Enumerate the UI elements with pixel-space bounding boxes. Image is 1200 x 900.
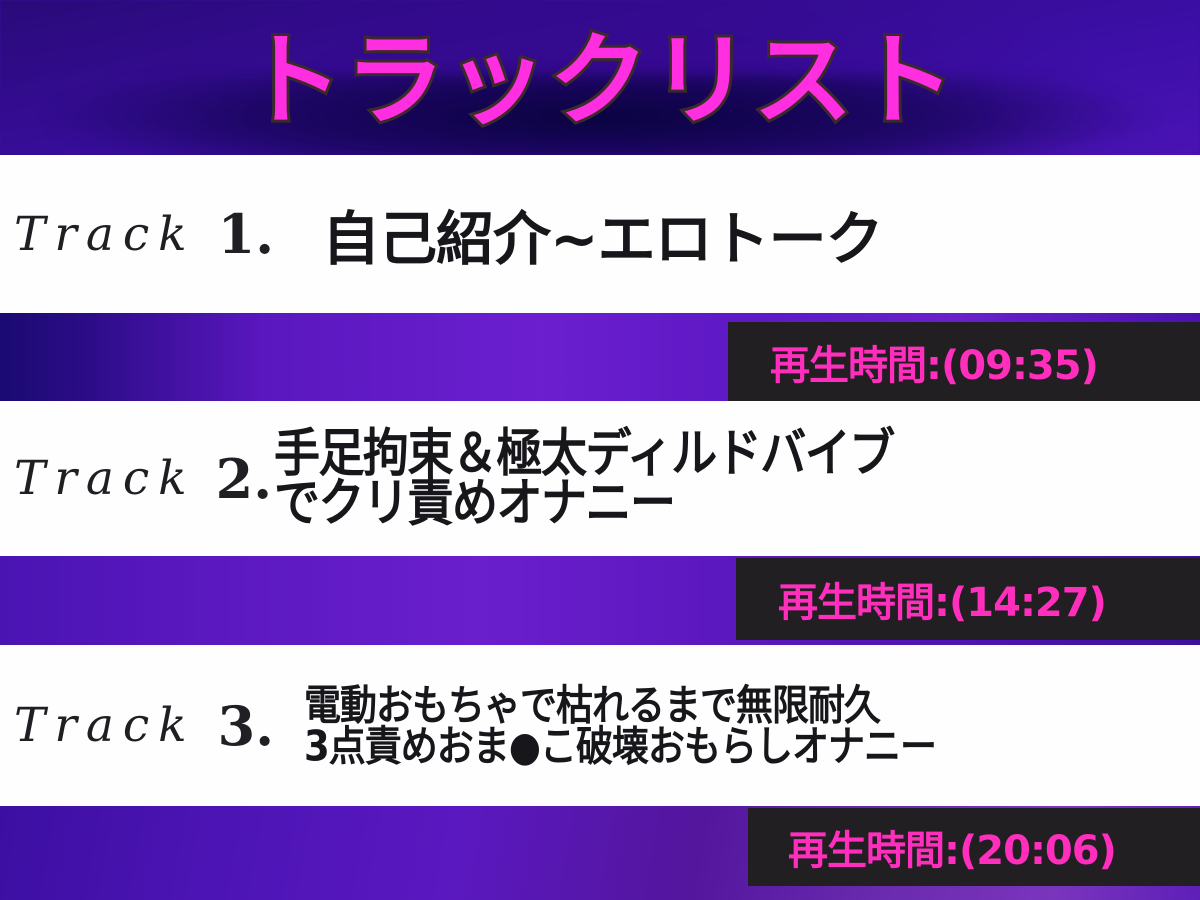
page-title: トラックリスト bbox=[243, 31, 957, 131]
track-label: Track bbox=[14, 451, 196, 506]
track-title-line-1: 手足拘束＆極太ディルドバイブ bbox=[274, 430, 894, 479]
track-duration-label: 再生時間:(20:06) bbox=[788, 818, 1116, 876]
track-row[interactable]: Track 2. 手足拘束＆極太ディルドバイブ でクリ責めオナニー bbox=[0, 401, 1200, 556]
track-number: 2. bbox=[216, 447, 272, 511]
track-number: 3. bbox=[218, 694, 274, 758]
track-duration-bar: 再生時間:(14:27) bbox=[736, 558, 1200, 640]
track-duration-label: 再生時間:(09:35) bbox=[770, 333, 1098, 391]
track-title-line-1: 電動おもちゃで枯れるまで無限耐久 bbox=[304, 684, 936, 725]
track-label: Track bbox=[14, 698, 196, 753]
track-title-line-1: 自己紹介~エロトーク bbox=[322, 192, 883, 276]
track-title: 電動おもちゃで枯れるまで無限耐久 3点責めおま●こ破壊おもらしオナニー bbox=[304, 684, 936, 767]
track-title-line-2: でクリ責めオナニー bbox=[274, 479, 894, 528]
track-list-slide: トラックリスト Track 1. 自己紹介~エロトーク 再生時間:(09:35)… bbox=[0, 0, 1200, 900]
track-number: 1. bbox=[218, 202, 274, 266]
track-duration-bar: 再生時間:(20:06) bbox=[748, 808, 1200, 886]
track-title: 自己紹介~エロトーク bbox=[322, 192, 883, 276]
track-row[interactable]: Track 1. 自己紹介~エロトーク bbox=[0, 155, 1200, 313]
track-label: Track bbox=[14, 207, 196, 262]
track-duration-bar: 再生時間:(09:35) bbox=[728, 322, 1200, 401]
track-title-line-2: 3点責めおま●こ破壊おもらしオナニー bbox=[304, 726, 936, 767]
track-title: 手足拘束＆極太ディルドバイブ でクリ責めオナニー bbox=[274, 430, 894, 528]
track-duration-label: 再生時間:(14:27) bbox=[778, 570, 1106, 628]
title-banner: トラックリスト bbox=[0, 18, 1200, 143]
track-row[interactable]: Track 3. 電動おもちゃで枯れるまで無限耐久 3点責めおま●こ破壊おもらし… bbox=[0, 645, 1200, 806]
